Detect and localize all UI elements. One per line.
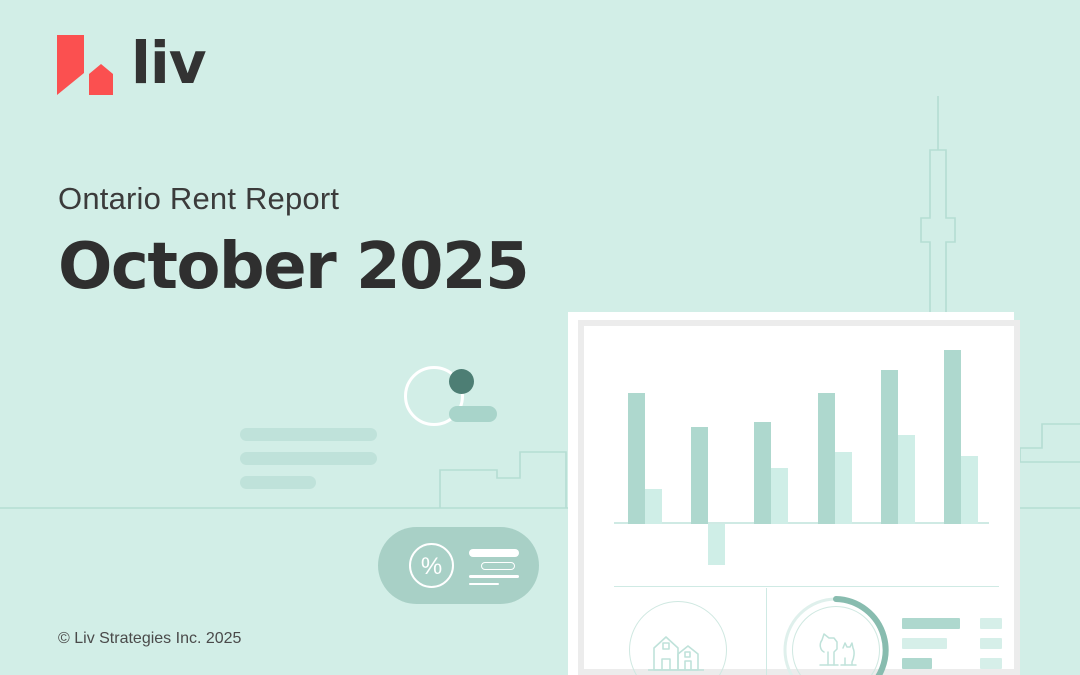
chart-bar xyxy=(818,393,835,524)
bar-chart xyxy=(614,354,989,564)
two-houses-icon xyxy=(630,602,726,675)
chart-bar xyxy=(691,427,708,524)
headline-block: Ontario Rent Report October 2025 xyxy=(58,182,528,301)
chart-bar-groups xyxy=(628,354,978,524)
chart-bar xyxy=(944,350,961,524)
house-panel xyxy=(629,601,727,675)
chart-bar-group xyxy=(628,393,662,524)
placeholder-text-lines xyxy=(240,428,377,500)
placeholder-line xyxy=(240,476,316,489)
chart-bar-group xyxy=(818,393,852,524)
chart-bar xyxy=(708,524,725,565)
pet-panel xyxy=(782,596,890,675)
chart-bar xyxy=(961,456,978,524)
liv-logomark-icon xyxy=(55,33,117,97)
chart-bar-group xyxy=(754,422,788,524)
donut-accent-dot xyxy=(449,369,474,394)
percent-icon: % xyxy=(409,543,454,588)
placeholder-line xyxy=(240,428,377,441)
donut-label-bar xyxy=(449,406,497,422)
stat-bar-row xyxy=(902,658,1002,669)
chart-bar xyxy=(835,452,852,524)
stat-bar-list xyxy=(902,618,1002,675)
pill-line xyxy=(469,575,519,578)
copyright-notice: © Liv Strategies Inc. 2025 xyxy=(58,630,241,648)
donut-widget xyxy=(404,366,524,436)
pill-line xyxy=(469,583,499,586)
stat-bar xyxy=(902,658,932,669)
chart-bar xyxy=(771,468,788,524)
liv-logo[interactable]: liv xyxy=(55,33,206,97)
document-card-front xyxy=(578,320,1020,675)
chart-bar-group xyxy=(691,354,725,524)
chart-bar-group xyxy=(881,370,915,524)
placeholder-line xyxy=(240,452,377,465)
chart-bar xyxy=(645,489,662,524)
chart-bar xyxy=(881,370,898,524)
stat-bar-chip xyxy=(980,658,1002,669)
rent-report-cover: liv Ontario Rent Report October 2025 © L… xyxy=(0,0,1080,675)
chart-bar xyxy=(754,422,771,524)
liv-wordmark: liv xyxy=(131,34,206,92)
chart-bar xyxy=(628,393,645,524)
pill-text-lines xyxy=(469,549,519,590)
report-kicker: Ontario Rent Report xyxy=(58,182,528,216)
chart-bar-group xyxy=(944,350,978,524)
stat-bar-row xyxy=(902,618,1002,629)
page-title: October 2025 xyxy=(58,234,528,301)
stat-bar-chip xyxy=(980,638,1002,649)
stat-bar-chip xyxy=(980,618,1002,629)
percent-pill-card: % xyxy=(378,527,539,604)
chart-bar xyxy=(898,435,915,524)
pill-line xyxy=(469,549,519,557)
vertical-divider xyxy=(766,588,767,675)
horizontal-divider xyxy=(614,586,999,587)
dog-and-cat-icon xyxy=(808,622,864,675)
stat-bar xyxy=(902,638,947,649)
stat-bar-row xyxy=(902,638,1002,649)
stat-bar xyxy=(902,618,960,629)
pill-line xyxy=(481,562,515,570)
